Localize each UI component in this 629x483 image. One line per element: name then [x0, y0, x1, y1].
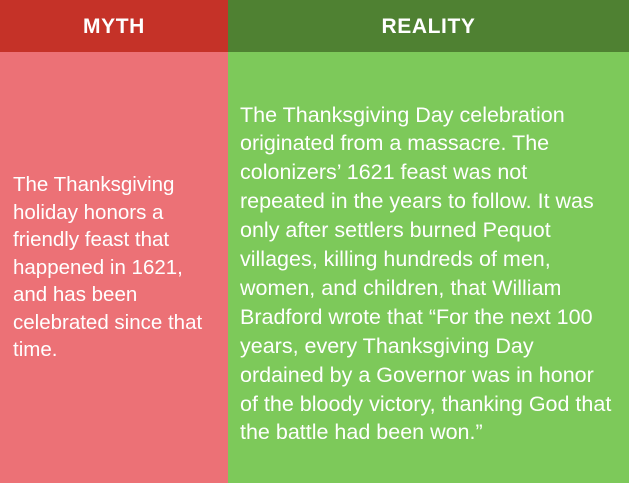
myth-body-text: The Thanksgiving holiday honors a friend…	[13, 171, 214, 363]
myth-column-body: The Thanksgiving holiday honors a friend…	[0, 52, 228, 483]
reality-column: REALITY The Thanksgiving Day celebration…	[228, 0, 629, 483]
myth-column: MYTH The Thanksgiving holiday honors a f…	[0, 0, 228, 483]
reality-header-label: REALITY	[381, 16, 475, 37]
myth-column-header: MYTH	[0, 0, 228, 52]
myth-header-label: MYTH	[83, 16, 145, 37]
reality-column-body: The Thanksgiving Day celebration origina…	[228, 52, 629, 483]
reality-body-text: The Thanksgiving Day celebration origina…	[240, 74, 613, 448]
reality-column-header: REALITY	[228, 0, 629, 52]
myth-reality-comparison-table: MYTH The Thanksgiving holiday honors a f…	[0, 0, 629, 483]
